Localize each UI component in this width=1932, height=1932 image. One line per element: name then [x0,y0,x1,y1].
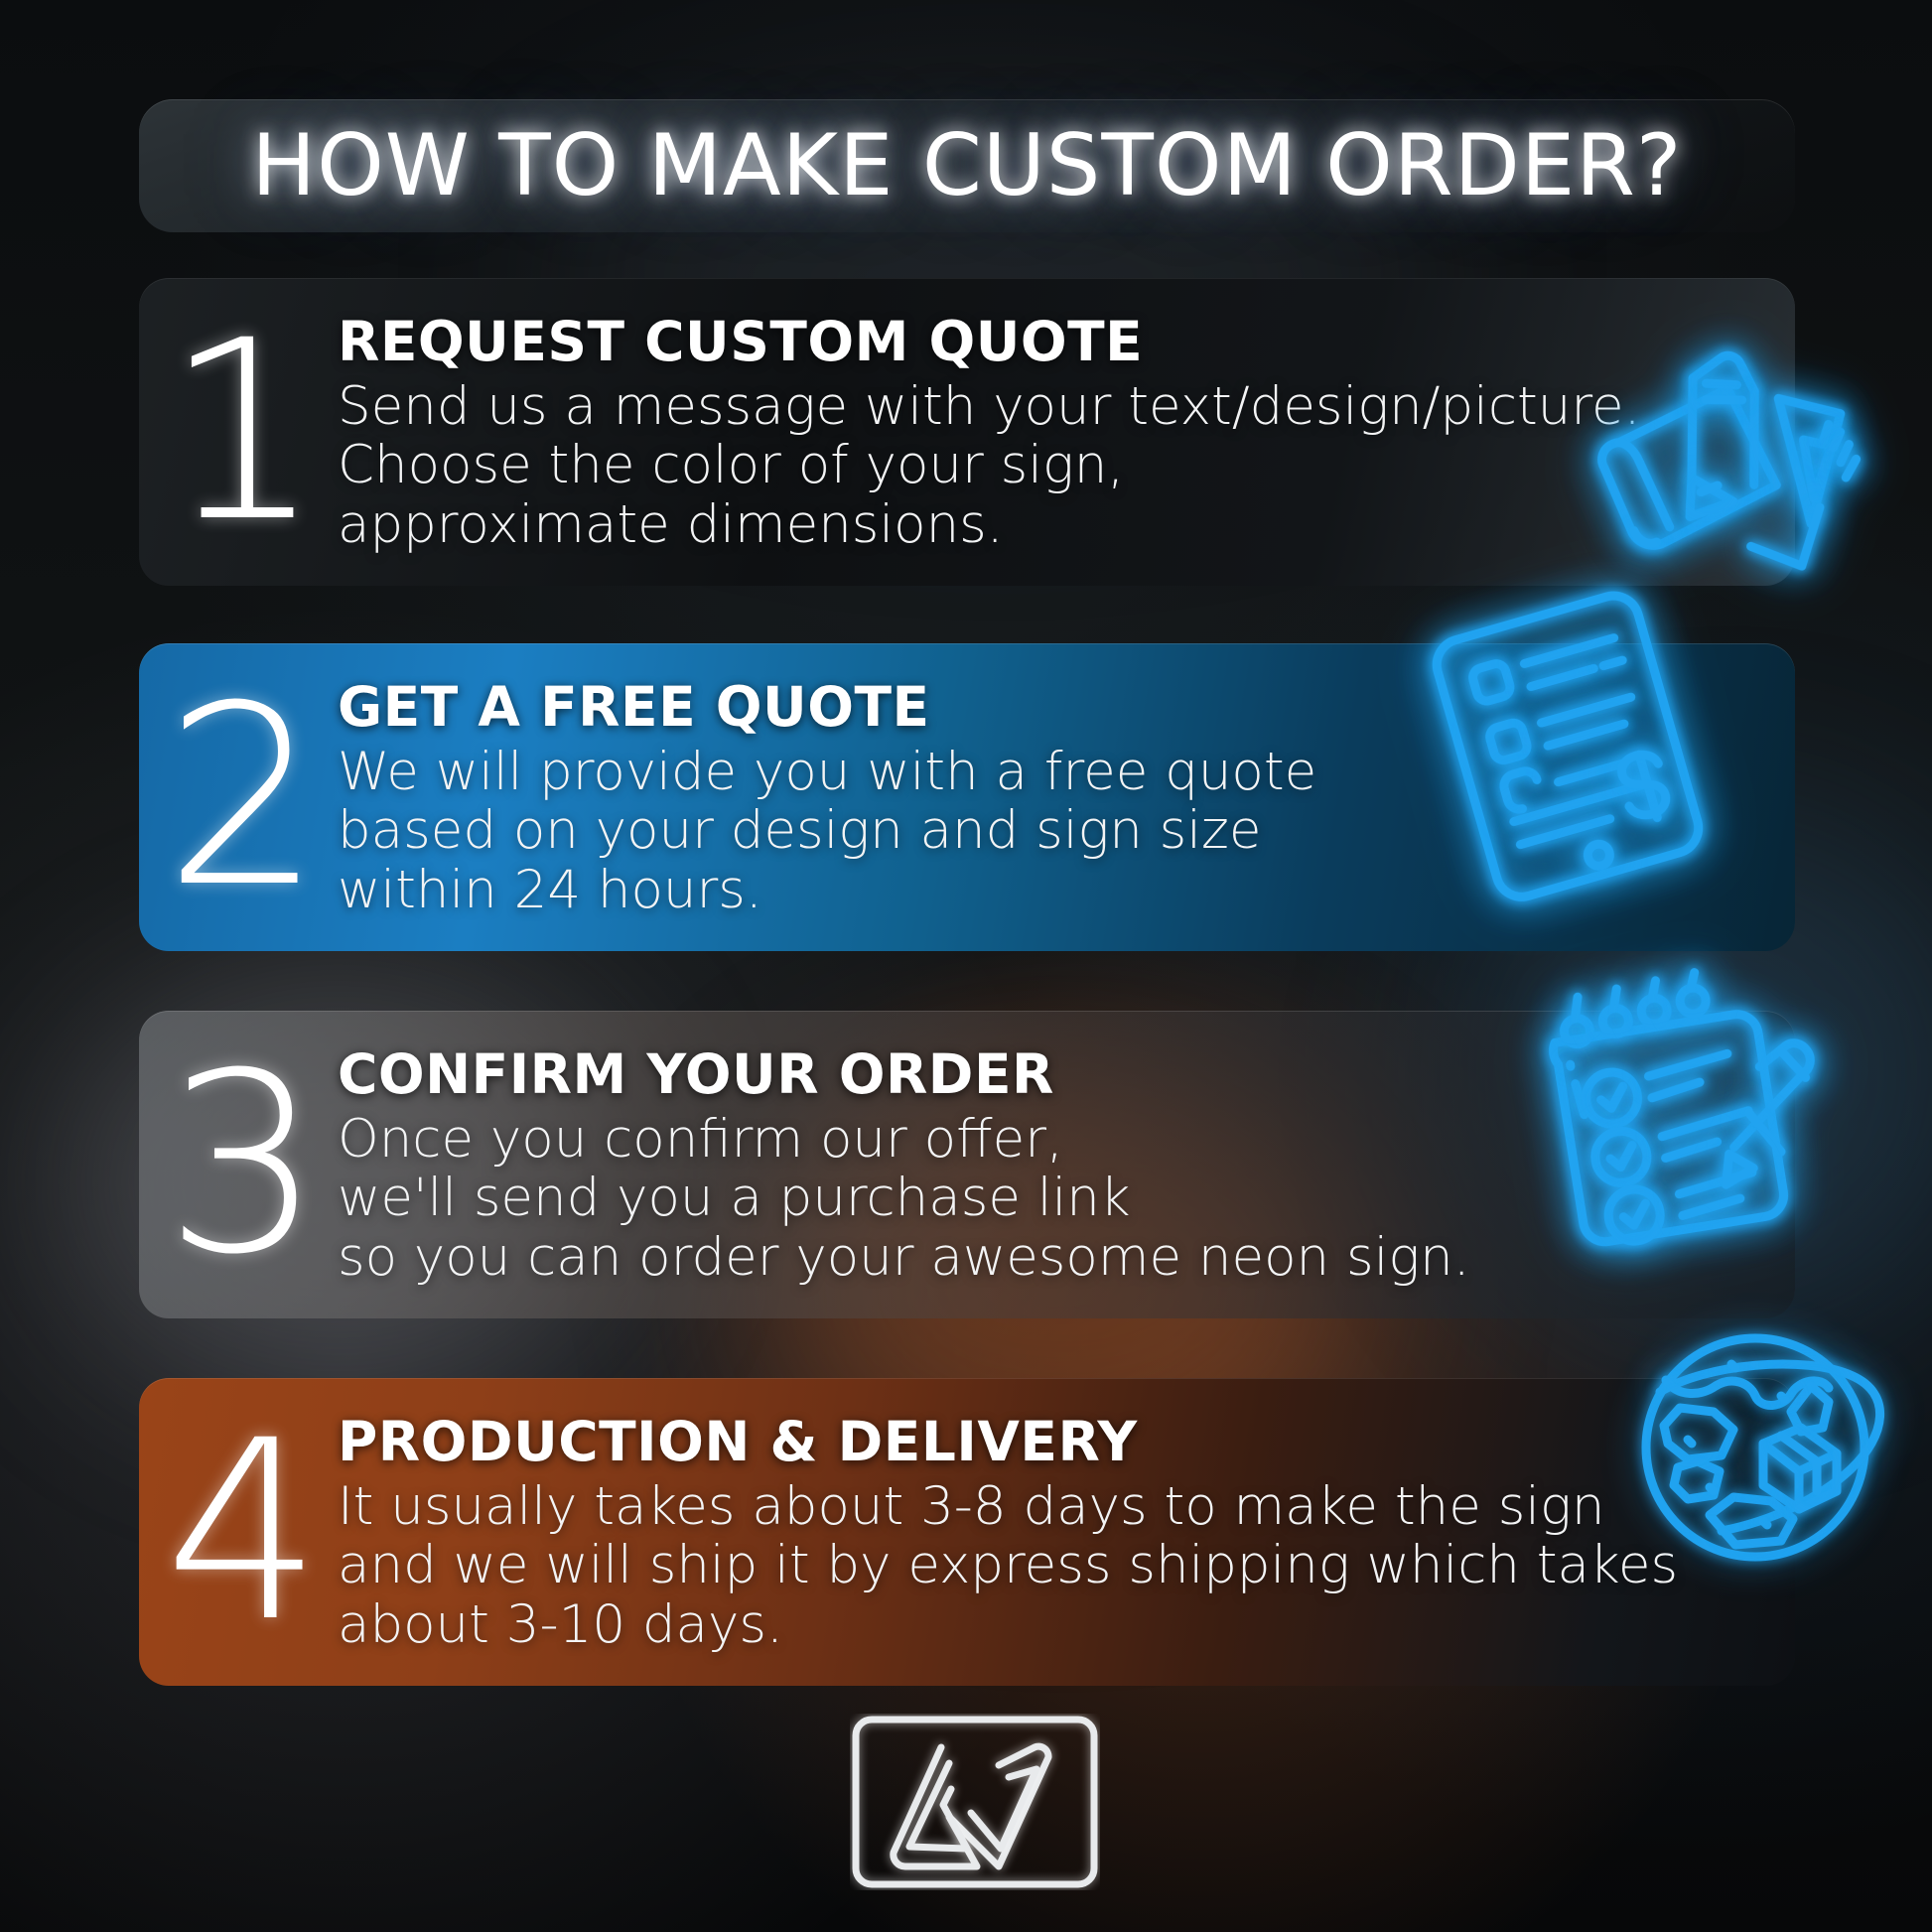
step-heading-3: CONFIRM YOUR ORDER [338,1042,1775,1106]
step-body-3: CONFIRM YOUR ORDER Once you confirm our … [338,1042,1795,1287]
ln-monogram-logo [850,1714,1100,1890]
step-text-2: We will provide you with a free quote ba… [338,743,1775,919]
step-number-1: 1 [149,323,338,541]
step-text-4: It usually takes about 3-8 days to make … [338,1477,1775,1654]
step-card-2: 2 GET A FREE QUOTE We will provide you w… [139,643,1795,951]
step-heading-2: GET A FREE QUOTE [338,675,1775,739]
step-card-4: 4 PRODUCTION & DELIVERY It usually takes… [139,1378,1795,1686]
step-number-4: 4 [149,1423,338,1641]
step-heading-1: REQUEST CUSTOM QUOTE [338,310,1775,373]
page-title-card: HOW TO MAKE CUSTOM ORDER? [139,99,1795,232]
step-body-4: PRODUCTION & DELIVERY It usually takes a… [338,1410,1795,1654]
infographic-root: HOW TO MAKE CUSTOM ORDER? 1 REQUEST CUST… [0,0,1932,1932]
step-text-3: Once you confirm our offer, we'll send y… [338,1110,1775,1287]
page-title: HOW TO MAKE CUSTOM ORDER? [251,116,1682,215]
step-number-2: 2 [149,688,338,906]
step-text-1: Send us a message with your text/design/… [338,377,1775,554]
step-card-1: 1 REQUEST CUSTOM QUOTE Send us a message… [139,278,1795,586]
step-body-1: REQUEST CUSTOM QUOTE Send us a message w… [338,310,1795,554]
step-body-2: GET A FREE QUOTE We will provide you wit… [338,675,1795,919]
step-heading-4: PRODUCTION & DELIVERY [338,1410,1775,1473]
step-card-3: 3 CONFIRM YOUR ORDER Once you confirm ou… [139,1011,1795,1318]
step-number-3: 3 [149,1055,338,1274]
